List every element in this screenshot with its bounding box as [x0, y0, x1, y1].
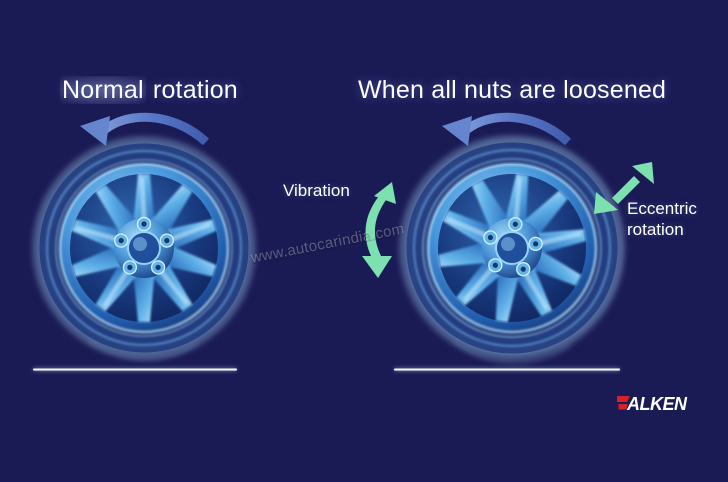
page-title-right: When all nuts are loosened	[358, 76, 666, 105]
center-cap-highlight	[133, 237, 147, 251]
title-highlight: Normal	[60, 76, 146, 104]
watermark: www.autocarindia.com	[249, 220, 405, 266]
ground-line	[394, 368, 620, 371]
falken-wordmark: ALKEN	[617, 394, 688, 414]
svg-text:ALKEN: ALKEN	[626, 394, 688, 414]
title-left-rest: rotation	[146, 76, 238, 104]
falken-logo: ALKEN	[617, 393, 709, 413]
diagram-canvas: www.autocarindia.com Normal rotation Whe…	[0, 0, 728, 482]
vibration-label: Vibration	[283, 180, 350, 201]
normal-rotation-wheel	[28, 132, 260, 364]
eccentric-rotation-wheel	[398, 132, 630, 364]
center-cap-highlight	[501, 237, 515, 251]
page-title-left: Normal rotation	[60, 76, 238, 105]
eccentric-rotation-label: Eccentric rotation	[627, 198, 697, 240]
ground-line	[33, 368, 237, 371]
